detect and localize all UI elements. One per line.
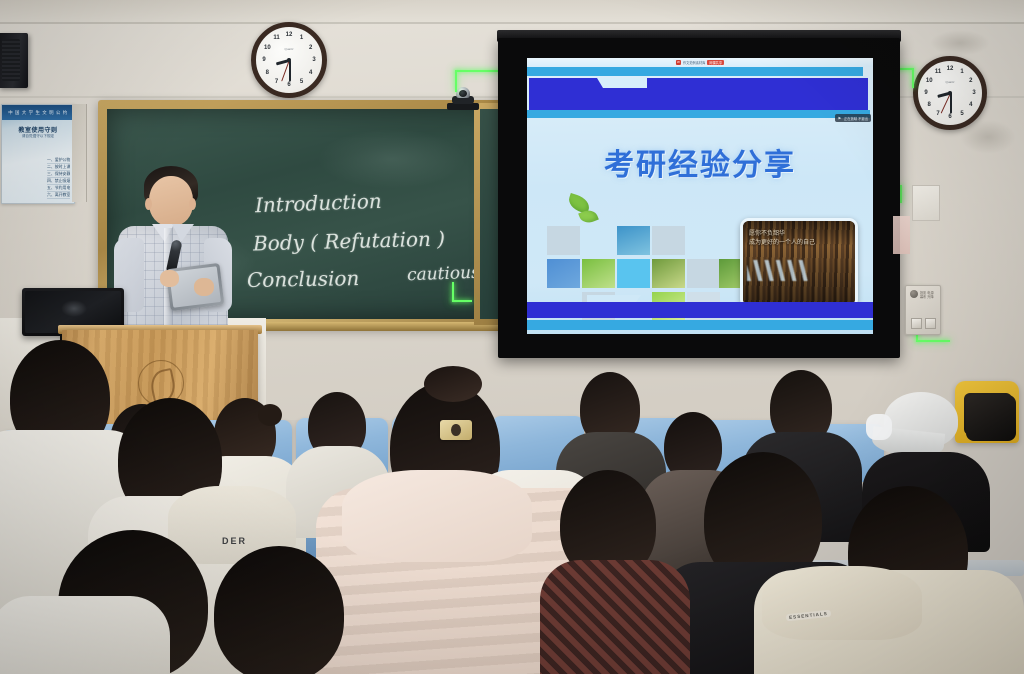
blackboard-line-3: Conclusion (247, 266, 360, 292)
hair-bun (258, 404, 282, 426)
hair-clip-icon (440, 420, 472, 440)
clock-numeral: 9 (262, 57, 265, 63)
clock-numeral: 7 (275, 79, 278, 85)
laser-guide-mark (916, 340, 950, 342)
clock-numeral: 6 (948, 114, 951, 120)
projection-screen[interactable]: W 作文范例素材库 网课共享 ▶ 正在放映 不退出 考研经验分享 (527, 58, 873, 334)
wall-edge-strip (72, 104, 87, 202)
wall-clock-right: Quartz 121234567891011 (913, 56, 987, 130)
camera-base (447, 103, 479, 110)
laser-guide-mark (455, 70, 501, 72)
mosaic-tile (617, 259, 650, 288)
clock-numeral: 5 (960, 111, 963, 117)
clock-numeral: 2 (309, 45, 312, 51)
slide-band-blue-top (529, 78, 868, 110)
clock-numeral: 10 (264, 45, 271, 51)
slide-band-blue-bottom (527, 302, 873, 318)
presenter-ear-right (189, 198, 196, 210)
poster-title: 教室使用守则 (2, 125, 74, 134)
photo-caption-line-2: 成为更好的一个人的自己 (749, 238, 849, 247)
hair-bun (424, 366, 482, 402)
wall-top-band (0, 0, 1024, 22)
classroom-rules-poster: 中 国 大 学 生 文 明 公 约 教室使用守则 请自觉遵守以下规定 一、爱护公… (1, 104, 75, 204)
lecture-hall-photo: 中 国 大 学 生 文 明 公 约 教室使用守则 请自觉遵守以下规定 一、爱护公… (0, 0, 1024, 674)
laser-guide-mark (452, 300, 472, 302)
clock-brand-text: Quartz (284, 47, 293, 51)
hoodie-hood (342, 470, 532, 562)
poster-rule-list: 一、爱护公物，保持整洁 二、按时上课，不得迟到 三、保持安静，禁止喧哗 四、禁止… (7, 157, 70, 199)
mosaic-tile (652, 259, 685, 288)
mosaic-tile (652, 226, 685, 255)
panel-label-line-2: 幕布 升降 (920, 295, 934, 299)
monitor-glare (61, 300, 88, 316)
list-item: 二、按时上课，不得迟到 (47, 164, 70, 171)
slide-band-cyan-bottom (527, 320, 873, 330)
clock-brand-text: Quartz (945, 80, 954, 84)
clock-numeral: 8 (928, 102, 931, 108)
presenter-hand-right (194, 278, 214, 296)
clock-minute-hand (950, 93, 952, 114)
mosaic-tile (547, 259, 580, 288)
laser-guide-mark (452, 282, 454, 302)
slide-title: 考研经验分享 (527, 140, 873, 184)
clock-numeral: 8 (266, 70, 269, 76)
presenter-head (149, 176, 193, 226)
list-item: 六、离开教室请关门窗 (47, 192, 70, 199)
photo-caption-line-1: 愿你不负韶华 (749, 229, 849, 238)
blackboard-line-1: Introduction (255, 189, 382, 217)
panel-knob-icon[interactable] (910, 290, 918, 298)
blackboard-line-2: Body ( Refutation ) (253, 226, 446, 255)
slide-band-cyan-second (527, 110, 870, 118)
clock-numeral: 1 (960, 69, 963, 75)
clock-numeral: 12 (286, 32, 293, 38)
clock-numeral: 12 (947, 66, 954, 72)
list-item: 四、禁止吸烟，禁止饮食 (47, 178, 70, 185)
clock-numeral: 5 (300, 79, 303, 85)
clock-numeral: 3 (972, 90, 975, 96)
clock-numeral: 2 (969, 78, 972, 84)
slide-library-photo: 愿你不负韶华 成为更好的一个人的自己 (740, 218, 858, 308)
poster-header: 中 国 大 学 生 文 明 公 约 (2, 105, 74, 120)
slide-band-cyan-top (527, 67, 863, 76)
wall-speaker-icon (0, 33, 28, 88)
black-bag (966, 395, 1016, 441)
clock-numeral: 11 (273, 35, 279, 41)
list-item: 五、节约用电，人走断电 (47, 185, 70, 192)
presenter-hand-left (160, 270, 179, 287)
wall-clock-left: Quartz 121234567891011 (251, 22, 327, 98)
clock-center-pin (948, 91, 952, 95)
document-title-pill: W 作文范例素材库 网课共享 (673, 59, 727, 66)
presentation-slide: W 作文范例素材库 网课共享 ▶ 正在放映 不退出 考研经验分享 (527, 58, 873, 334)
photo-caption: 愿你不负韶华 成为更好的一个人的自己 (749, 229, 849, 247)
hoodie-back-text: DER (222, 536, 247, 546)
clock-numeral: 3 (312, 57, 315, 63)
presenter (112, 166, 234, 334)
student-shoulders (0, 596, 170, 674)
mosaic-tile (547, 226, 580, 255)
hoodie-hood (762, 566, 922, 640)
document-badge: 网课共享 (707, 60, 724, 65)
poster-subtitle: 请自觉遵守以下规定 (2, 134, 74, 139)
student-shoulders (540, 560, 690, 674)
mosaic-tile (617, 226, 650, 255)
clock-numeral: 10 (926, 78, 933, 84)
wps-icon: W (676, 60, 681, 65)
slide-band-notch (597, 78, 647, 88)
mosaic-tile (687, 259, 720, 288)
wall-seam (0, 22, 1024, 24)
slide-hud-text: 正在放映 不退出 (844, 116, 868, 121)
presenter-ear-left (145, 198, 152, 210)
wall-control-panel[interactable]: 投影 电源 幕布 升降 (905, 285, 941, 335)
clock-numeral: 4 (969, 102, 972, 108)
laser-guide-mark (912, 68, 914, 88)
slide-status-hud: ▶ 正在放映 不退出 (835, 114, 871, 122)
camera-lens (459, 90, 467, 97)
laser-guide-mark (455, 70, 457, 92)
clock-numeral: 7 (936, 111, 939, 117)
panel-switch-right[interactable] (925, 318, 936, 329)
clock-numeral: 9 (924, 90, 927, 96)
tracking-camera-icon (447, 88, 479, 110)
mosaic-tile (582, 259, 615, 288)
photo-lights (747, 260, 810, 282)
clock-minute-hand (289, 60, 291, 81)
wall-stain (930, 30, 990, 56)
wall-note (893, 216, 910, 254)
wall-sign (912, 185, 940, 221)
face-mask-icon (866, 414, 892, 440)
student-head (214, 546, 344, 674)
document-title-text: 作文范例素材库 (683, 60, 705, 65)
clock-numeral: 6 (287, 82, 290, 88)
list-item: 一、爱护公物，保持整洁 (47, 157, 70, 164)
chalk-smudge (317, 129, 467, 189)
clock-numeral: 1 (300, 35, 303, 41)
blackboard-line-4: cautious (407, 263, 480, 286)
laser-guide-mark (900, 185, 902, 203)
panel-label: 投影 电源 幕布 升降 (920, 291, 934, 300)
play-icon: ▶ (838, 116, 841, 120)
clock-numeral: 4 (309, 70, 312, 76)
clock-numeral: 11 (935, 69, 941, 75)
clock-center-pin (287, 58, 291, 62)
poster-header-text: 中 国 大 学 生 文 明 公 约 (2, 105, 74, 120)
list-item: 三、保持安静，禁止喧哗 (47, 171, 70, 178)
panel-switch-left[interactable] (911, 318, 922, 329)
